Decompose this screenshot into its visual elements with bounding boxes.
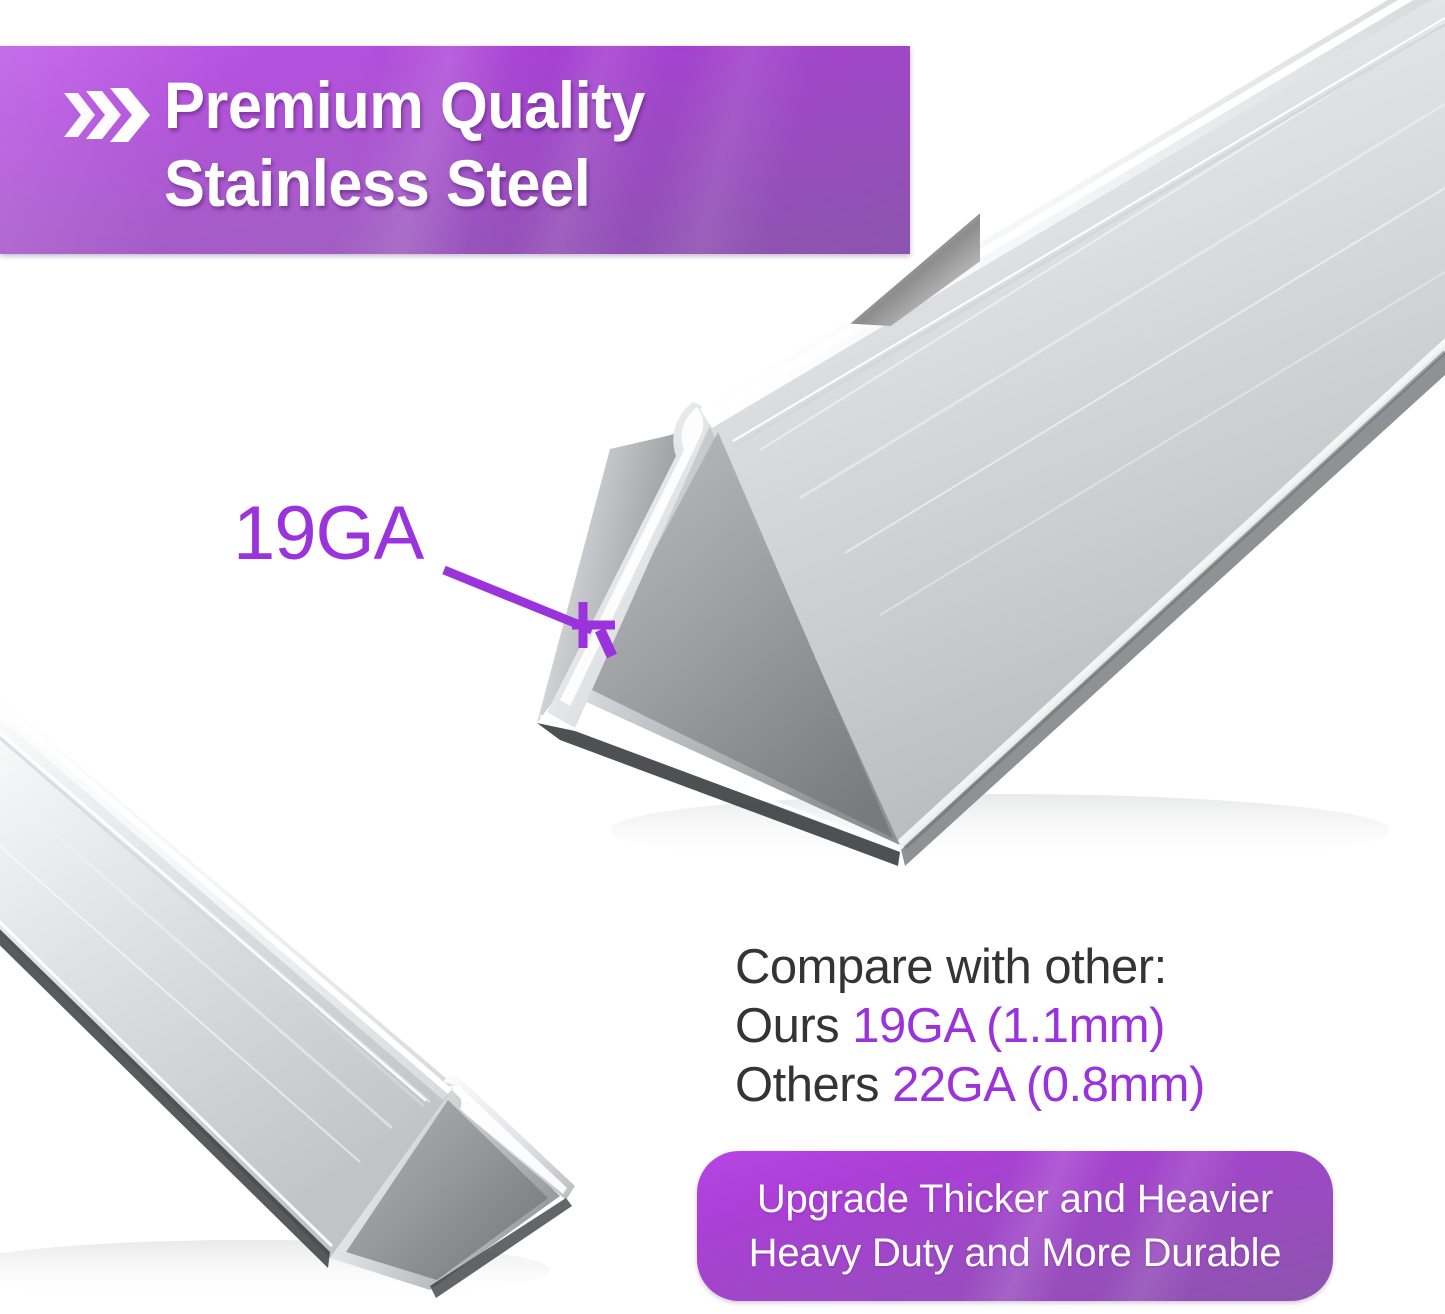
comparison-row-ours-label: Ours [735, 999, 852, 1053]
comparison-row-others: Others 22GA (0.8mm) [735, 1056, 1335, 1115]
dimension-leader-line-icon [440, 530, 640, 660]
banner-content: Premium Quality Stainless Steel [62, 66, 900, 254]
premium-quality-banner: Premium Quality Stainless Steel [0, 46, 910, 254]
comparison-heading: Compare with other: [735, 938, 1335, 997]
comparison-row-others-label: Others [735, 1058, 892, 1112]
gauge-callout-label: 19GA [233, 492, 423, 576]
comparison-text-block: Compare with other: Ours 19GA (1.1mm) Ot… [735, 938, 1335, 1115]
secondary-steel-bar [0, 672, 575, 1300]
upgrade-callout-pill: Upgrade Thicker and Heavier Heavy Duty a… [697, 1151, 1333, 1301]
comparison-row-ours: Ours 19GA (1.1mm) [735, 997, 1335, 1056]
product-infographic: Premium Quality Stainless Steel 19GA Com… [0, 0, 1445, 1314]
comparison-row-ours-value: 19GA (1.1mm) [852, 999, 1165, 1053]
comparison-row-others-value: 22GA (0.8mm) [892, 1058, 1205, 1112]
double-chevron-right-icon [62, 86, 154, 144]
banner-title: Premium Quality Stainless Steel [164, 66, 645, 222]
upgrade-callout-text: Upgrade Thicker and Heavier Heavy Duty a… [749, 1172, 1282, 1280]
